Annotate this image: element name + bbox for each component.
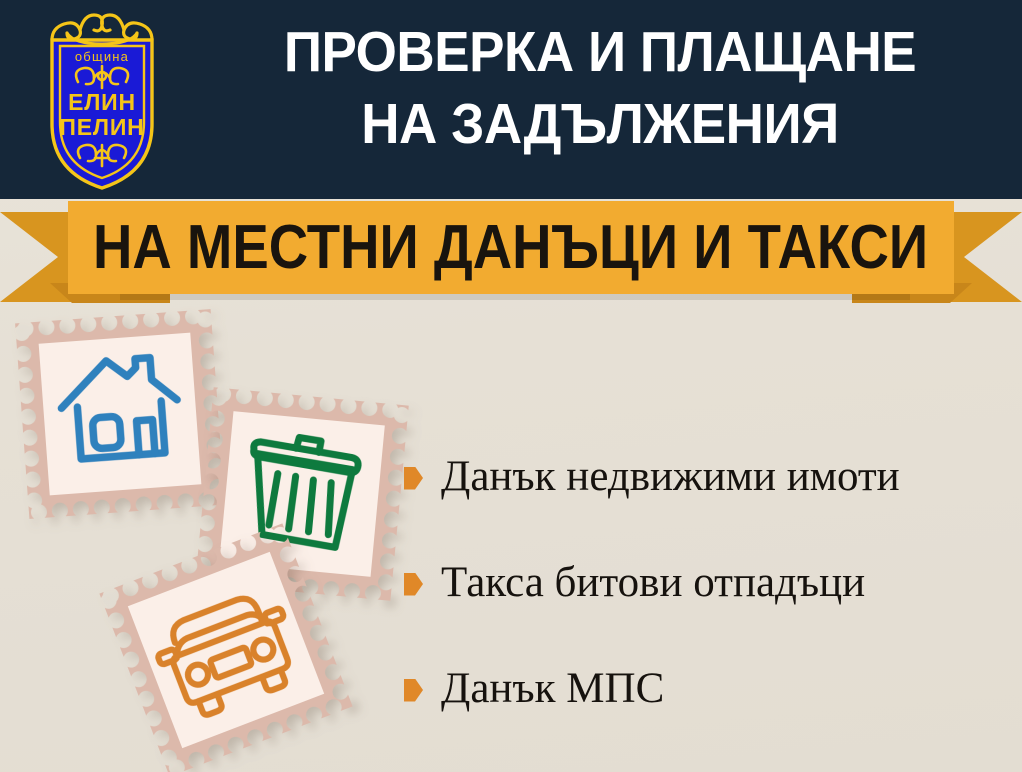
crest-top-label: община bbox=[75, 49, 129, 64]
tax-type-list: Данък недвижими имоти Такса битови отпад… bbox=[404, 424, 1016, 742]
ribbon-panel: НА МЕСТНИ ДАНЪЦИ И ТАКСИ bbox=[68, 201, 954, 294]
bullet-arrow-icon bbox=[404, 573, 423, 596]
list-item-label: Данък МПС bbox=[441, 665, 664, 713]
bullet-arrow-icon bbox=[404, 467, 423, 490]
crest-name-line2: ПЕЛИН bbox=[59, 114, 144, 140]
ribbon-label: НА МЕСТНИ ДАНЪЦИ И ТАКСИ bbox=[93, 217, 928, 279]
list-item-label: Данък недвижими имоти bbox=[441, 453, 900, 501]
house-icon bbox=[39, 333, 202, 496]
page-title: ПРОВЕРКА И ПЛАЩАНЕ НА ЗАДЪЛЖЕНИЯ bbox=[215, 16, 985, 160]
list-item[interactable]: Данък недвижими имоти bbox=[404, 424, 1016, 530]
bullet-arrow-icon bbox=[404, 679, 423, 702]
ribbon-banner: НА МЕСТНИ ДАНЪЦИ И ТАКСИ bbox=[0, 197, 1022, 309]
crest-name-line1: ЕЛИН bbox=[68, 89, 136, 115]
stamp-card-property bbox=[15, 309, 225, 519]
list-item[interactable]: Такса битови отпадъци bbox=[404, 530, 1016, 636]
list-item[interactable]: Данък МПС bbox=[404, 636, 1016, 742]
list-item-label: Такса битови отпадъци bbox=[441, 559, 865, 607]
municipality-coat-of-arms-icon: община ЕЛИН ПЕЛИН bbox=[22, 6, 182, 192]
ribbon-shadow bbox=[120, 294, 910, 300]
poster-root: ПРОВЕРКА И ПЛАЩАНЕ НА ЗАДЪЛЖЕНИЯ община bbox=[0, 0, 1022, 772]
